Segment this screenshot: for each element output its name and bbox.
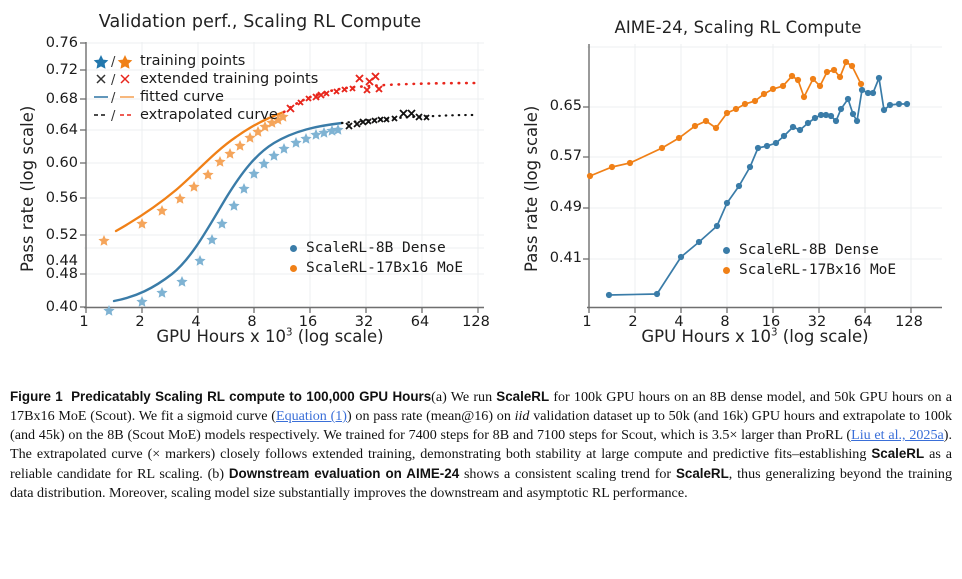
caption-iid: iid: [515, 408, 530, 424]
series-dot-blue-icon: [280, 245, 306, 252]
ytick-r-3: 0.41: [530, 250, 582, 266]
ytick-6: 0.52: [28, 227, 78, 243]
solid-line-pair-icon: /: [88, 89, 140, 105]
xtick-r-7: 128: [893, 314, 925, 330]
xtick-r-6: 64: [847, 314, 879, 330]
caption-text-6: shows a consistent scaling trend for: [459, 466, 676, 482]
legend-row-extended-points: / extended training points: [88, 70, 318, 88]
svg-text:/: /: [111, 55, 116, 69]
liu-citation-link[interactable]: Liu et al., 2025a: [851, 427, 944, 443]
panel-aime24-ylabel: Pass rate (log scale): [522, 106, 541, 272]
star-pair-icon: /: [88, 53, 140, 69]
xtick-r-1: 2: [617, 314, 649, 330]
xtick-3: 8: [234, 314, 270, 330]
legend-label-fitted-curve: fitted curve: [140, 89, 224, 105]
xtick-r-3: 8: [709, 314, 741, 330]
svg-text:/: /: [111, 91, 116, 105]
ytick-8: 0.44: [28, 253, 78, 269]
legend-label-extrapolated-curve: extrapolated curve: [140, 107, 278, 123]
caption-part-a-lead: (a) We run: [431, 389, 496, 405]
series-dot-orange-icon-2: [713, 267, 739, 274]
legend-row-training-points: / training points: [88, 52, 318, 70]
caption-scalerl-3: ScaleRL: [676, 466, 729, 481]
xtick-5: 32: [346, 314, 382, 330]
caption-text-2: ) on pass rate (mean@16) on: [347, 408, 515, 424]
figure-caption: Figure 1 Predicatably Scaling RL compute…: [10, 388, 952, 503]
ytick-0: 0.76: [28, 35, 78, 51]
ytick-5: 0.56: [28, 190, 78, 206]
figure-page: Validation perf., Scaling RL Compute Pas…: [0, 0, 962, 579]
xtick-2: 4: [178, 314, 214, 330]
legend-row-fitted-curve: / fitted curve: [88, 88, 318, 106]
validation-marker-legend: / training points /: [88, 52, 318, 124]
xtick-0: 1: [66, 314, 102, 330]
ytick-9: 0.40: [28, 299, 78, 315]
xtick-4: 16: [290, 314, 326, 330]
cross-pair-icon: /: [88, 71, 140, 87]
xtick-r-2: 4: [663, 314, 695, 330]
equation-1-link[interactable]: Equation (1): [276, 408, 347, 424]
panel-aime24: AIME-24, Scaling RL Compute Pass rate (l…: [500, 0, 962, 368]
caption-scalerl-1: ScaleRL: [496, 389, 549, 404]
caption-figure-label: Figure 1: [10, 389, 63, 404]
xlabel-pre-2: GPU Hours x 10: [641, 327, 771, 346]
svg-text:/: /: [111, 73, 116, 87]
caption-bold-title: Predicatably Scaling RL compute to 100,0…: [71, 389, 431, 404]
figure-area: Validation perf., Scaling RL Compute Pas…: [0, 0, 962, 368]
legend-row-extrapolated-curve: / extrapolated curve: [88, 106, 318, 124]
caption-bold-b: Downstream evaluation on AIME-24: [229, 466, 459, 481]
xtick-r-0: 1: [571, 314, 603, 330]
legend-label-aime-moe: ScaleRL-17Bx16 MoE: [739, 262, 896, 278]
legend-label-training-points: training points: [140, 53, 245, 69]
legend-label-extended-points: extended training points: [140, 71, 318, 87]
dashed-line-pair-icon: /: [88, 107, 140, 123]
ytick-r-0: 0.65: [530, 98, 582, 114]
legend-row-aime-dense: ScaleRL-8B Dense: [713, 240, 896, 260]
series-dot-orange-icon: [280, 265, 306, 272]
panel-validation: Validation perf., Scaling RL Compute Pas…: [0, 0, 500, 368]
xtick-r-5: 32: [801, 314, 833, 330]
ytick-4: 0.60: [28, 155, 78, 171]
ytick-r-1: 0.57: [530, 148, 582, 164]
aime24-series-legend: ScaleRL-8B Dense ScaleRL-17Bx16 MoE: [713, 240, 896, 280]
ytick-1: 0.72: [28, 62, 78, 78]
legend-row-series-dense: ScaleRL-8B Dense: [280, 238, 463, 258]
xtick-1: 2: [122, 314, 158, 330]
ytick-3: 0.64: [28, 122, 78, 138]
ytick-r-2: 0.49: [530, 199, 582, 215]
validation-series-legend: ScaleRL-8B Dense ScaleRL-17Bx16 MoE: [280, 238, 463, 278]
xtick-7: 128: [458, 314, 494, 330]
panel-aime24-plot: ScaleRL-8B Dense ScaleRL-17Bx16 MoE: [587, 44, 942, 308]
caption-scalerl-2: ScaleRL: [871, 446, 924, 461]
xtick-6: 64: [402, 314, 438, 330]
panel-validation-plot: / training points /: [84, 42, 484, 308]
legend-label-series-moe: ScaleRL-17Bx16 MoE: [306, 260, 463, 276]
legend-row-series-moe: ScaleRL-17Bx16 MoE: [280, 258, 463, 278]
panel-aime24-title: AIME-24, Scaling RL Compute: [520, 18, 956, 37]
series-dot-blue-icon-2: [713, 247, 739, 254]
legend-label-series-dense: ScaleRL-8B Dense: [306, 240, 446, 256]
svg-text:/: /: [111, 109, 116, 123]
xtick-r-4: 16: [755, 314, 787, 330]
legend-row-aime-moe: ScaleRL-17Bx16 MoE: [713, 260, 896, 280]
ytick-2: 0.68: [28, 91, 78, 107]
legend-label-aime-dense: ScaleRL-8B Dense: [739, 242, 879, 258]
panel-validation-title: Validation perf., Scaling RL Compute: [20, 12, 500, 32]
